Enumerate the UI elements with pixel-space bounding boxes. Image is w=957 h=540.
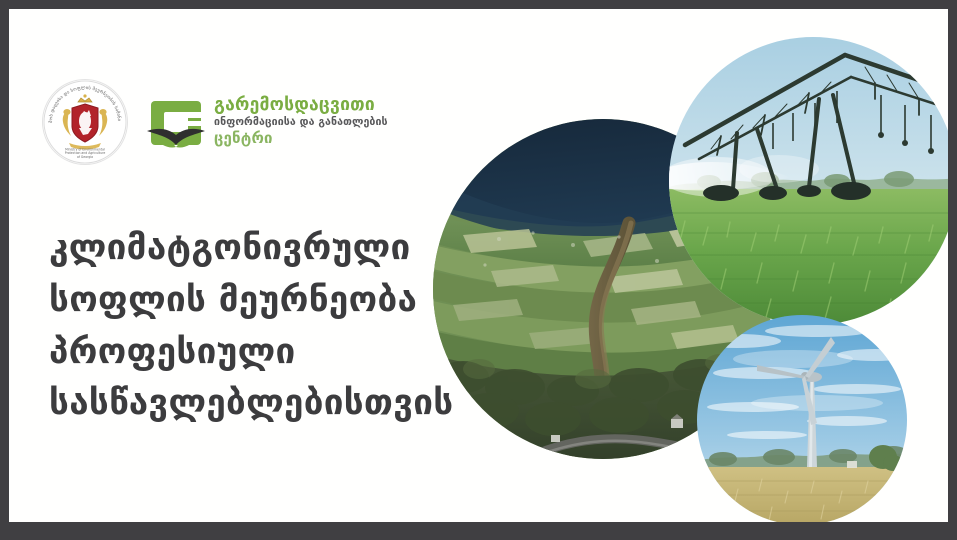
open-book-leaf-icon <box>145 91 207 153</box>
headline-line-1: კლიმატგონივრული <box>49 223 479 275</box>
headline-line-4: სასწავლებლებისთვის <box>49 378 479 430</box>
headline-line-2: სოფლის მეურნეობა <box>49 275 479 327</box>
slide-frame: გარემოს დაცვისა და სოფლის მეურნეობის სამ… <box>0 0 957 540</box>
eic-line2: ინფორმაციისა და განათლების <box>214 117 388 128</box>
photo-center-pivot-irrigation <box>669 37 948 325</box>
emblem-caption-line3: of Georgia <box>77 155 93 159</box>
ministry-emblem: გარემოს დაცვისა და სოფლის მეურნეობის სამ… <box>42 79 128 165</box>
georgia-coat-of-arms-icon: გარემოს დაცვისა და სოფლის მეურნეობის სამ… <box>43 80 127 164</box>
headline-line-3: პროფესიული <box>49 327 479 379</box>
eic-line1: გარემოსდაცვითი <box>214 96 388 115</box>
page-title: კლიმატგონივრული სოფლის მეურნეობა პროფესი… <box>49 223 479 430</box>
slide-canvas: გარემოს დაცვისა და სოფლის მეურნეობის სამ… <box>9 9 948 522</box>
photo-wind-turbine-field <box>697 315 907 522</box>
eic-logo-text: გარემოსდაცვითი ინფორმაციისა და განათლები… <box>214 96 388 148</box>
eic-line3: ცენტრი <box>214 130 388 146</box>
eic-logo: გარემოსდაცვითი ინფორმაციისა და განათლები… <box>145 91 388 153</box>
logo-row: გარემოს დაცვისა და სოფლის მეურნეობის სამ… <box>42 79 388 165</box>
